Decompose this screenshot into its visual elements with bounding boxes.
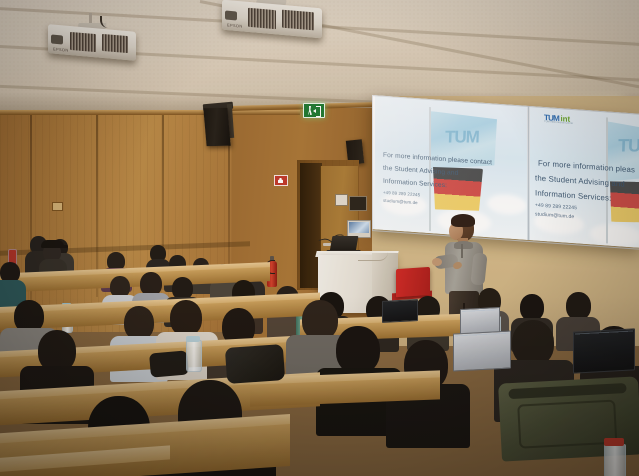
emergency-exit-sign-icon	[303, 103, 325, 118]
projector-vent	[70, 32, 96, 52]
presenter-collar	[454, 241, 473, 249]
student-laptop	[573, 328, 635, 373]
av-cable	[358, 252, 388, 261]
wall-av-panel[interactable]	[349, 196, 367, 211]
presenter-hair	[451, 214, 475, 227]
projector-lens	[51, 34, 63, 44]
door-icon	[316, 106, 321, 117]
wall-outlet-plate	[52, 202, 63, 211]
projection-screen: TUM For more information please contact …	[372, 95, 639, 248]
person-head	[302, 300, 338, 340]
screen-frame	[372, 95, 639, 250]
person-head	[170, 300, 202, 336]
running-man-icon	[308, 106, 312, 115]
fire-extinguisher-sign-icon	[274, 175, 288, 186]
projector-lens	[225, 10, 237, 20]
water-bottle	[186, 340, 202, 372]
wall-speaker-left	[203, 108, 230, 146]
folded-coat	[149, 350, 189, 377]
backpack-top-strap	[508, 383, 626, 399]
backpack	[225, 344, 285, 384]
cap-brim	[59, 245, 68, 248]
presenter-zip	[461, 244, 463, 258]
projector-vent	[248, 8, 276, 29]
red-chair	[396, 267, 430, 297]
person-head	[336, 326, 380, 374]
projector-vent	[102, 34, 128, 53]
student-laptop	[382, 299, 418, 323]
bottle-cap	[604, 438, 624, 446]
backpack-strap	[517, 400, 617, 449]
bottle-cap	[186, 336, 200, 342]
person-head	[520, 294, 544, 321]
extinguisher-glyph-icon	[278, 178, 283, 183]
projector-left: EPSON	[48, 22, 140, 66]
monitor-screen	[349, 222, 369, 233]
person-head	[566, 292, 591, 320]
presenter-left-hand	[432, 258, 442, 266]
person-head	[124, 306, 154, 340]
wall-top-trim	[0, 110, 300, 115]
lecture-hall-photo: EPSON EPSON	[0, 0, 639, 476]
wall-control-panel[interactable]	[335, 194, 348, 206]
laptop-screen-content	[455, 333, 509, 370]
water-bottle	[604, 444, 626, 476]
projector-vent	[282, 10, 314, 31]
student-laptop	[453, 330, 511, 371]
laptop-screen-content	[462, 309, 498, 333]
presenter-right-arm	[470, 252, 487, 285]
laptop-screen-content	[575, 330, 633, 371]
projector-right: EPSON	[222, 0, 332, 42]
